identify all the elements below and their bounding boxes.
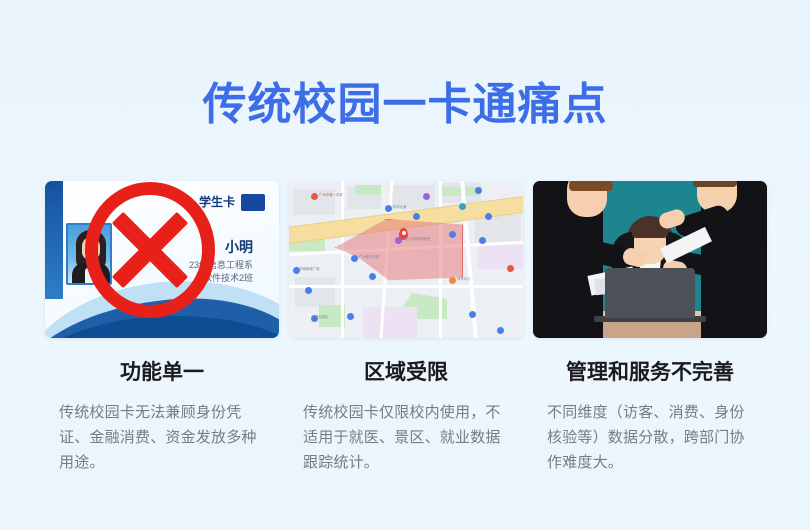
card-title-label: 学生卡 (199, 193, 235, 210)
column-management-service: 管理和服务不完善 不同维度（访客、消费、身份核验等）数据分散，跨部门协作难度大。 (533, 181, 767, 475)
map-image: 广州市第一中学 科学大道 广州南方学院 中山大学附属医院 体育中心 华南新城广场… (289, 181, 523, 338)
column-body-text: 传统校园卡仅限校内使用，不适用于就医、景区、就业数据跟踪统计。 (289, 400, 523, 475)
map-poi-pin (485, 213, 492, 220)
red-x-circle-icon (85, 182, 215, 318)
map-district (363, 307, 417, 338)
map-road (341, 181, 344, 338)
map-poi-pin (479, 237, 486, 244)
map-label: 华南新城广场 (299, 266, 319, 271)
map-park (355, 185, 381, 195)
map-block (295, 277, 335, 307)
map-poi-pin (369, 273, 376, 280)
map-poi-pin (413, 213, 420, 220)
map-poi-pin (351, 255, 358, 262)
colleague-right-hair (693, 181, 737, 187)
map-label: 创业园区 (315, 314, 329, 319)
office-scene (533, 181, 767, 338)
column-body-text: 传统校园卡无法兼顾身份凭证、金融消费、资金发放多种用途。 (45, 400, 279, 475)
map-poi-pin (497, 327, 504, 334)
card-student-name: 小明 (225, 237, 253, 257)
map-district (477, 243, 523, 269)
map-poi-pin (385, 205, 392, 212)
colleague-left-hair (569, 181, 613, 191)
map-road (289, 285, 523, 288)
card-chip-icon (241, 194, 265, 211)
laptop-screen (605, 268, 695, 318)
column-body-text: 不同维度（访客、消费、身份核验等）数据分散，跨部门协作难度大。 (533, 400, 767, 475)
map-label: 科学大道 (393, 204, 407, 209)
map-poi-pin (347, 313, 354, 320)
map-poi-pin (449, 231, 456, 238)
column-heading: 功能单一 (45, 359, 279, 387)
map-poi-pin (449, 277, 456, 284)
column-heading: 区域受限 (289, 359, 523, 387)
column-feature-limited: 学生卡 小明 23级信息工程系 软件技术2班 功能单一 (45, 181, 279, 475)
map-poi-pin (395, 237, 402, 244)
map-poi-pin (469, 311, 476, 318)
meeting-illustration-image (533, 181, 767, 338)
columns-container: 学生卡 小明 23级信息工程系 软件技术2班 功能单一 (45, 181, 767, 475)
slide-root: 传统校园一卡通痛点 学生卡 小明 23级信息工程系 软件技术2班 (0, 0, 810, 530)
map-label: 中山大学附属医院 (403, 236, 430, 241)
page-title: 传统校园一卡通痛点 (0, 78, 810, 132)
map-poi-pin (305, 287, 312, 294)
card-corner-accent (45, 181, 63, 299)
student-card-image: 学生卡 小明 23级信息工程系 软件技术2班 (45, 181, 279, 338)
map-poi-pin (459, 203, 466, 210)
map-park (439, 187, 479, 196)
map-poi-pin (311, 193, 318, 200)
map-poi-pin (507, 265, 514, 272)
map-label: 体育中心 (457, 276, 471, 281)
map-poi-pin (475, 187, 482, 194)
column-heading: 管理和服务不完善 (533, 359, 767, 387)
column-area-limited: 广州市第一中学 科学大道 广州南方学院 中山大学附属医院 体育中心 华南新城广场… (289, 181, 523, 475)
map-label: 广州南方学院 (359, 254, 379, 259)
map-poi-pin (423, 193, 430, 200)
map-label: 广州市第一中学 (319, 192, 343, 197)
map-canvas: 广州市第一中学 科学大道 广州南方学院 中山大学附属医院 体育中心 华南新城广场… (289, 181, 523, 338)
